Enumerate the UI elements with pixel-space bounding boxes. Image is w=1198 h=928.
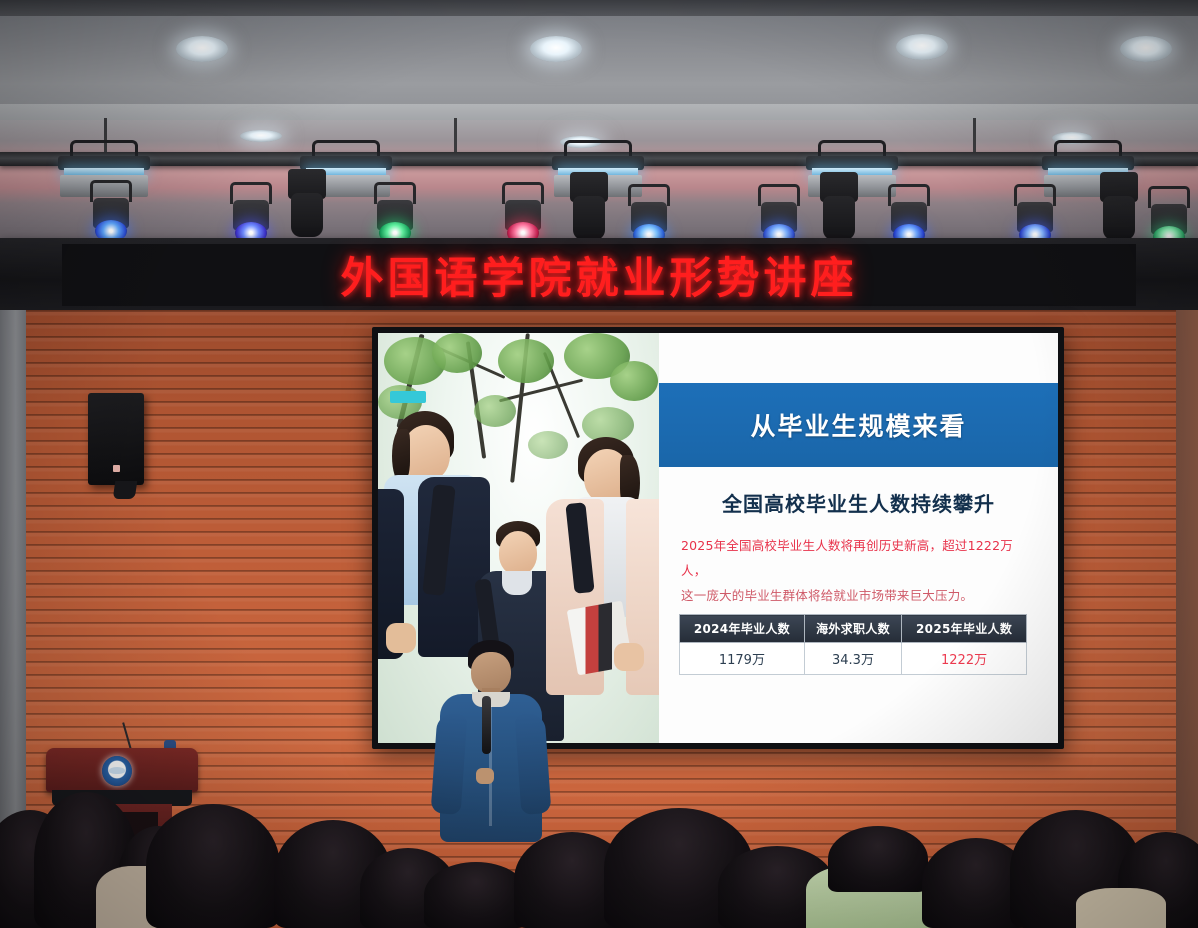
photo-foliage-3 [498, 339, 554, 383]
truss-drop-rod-3 [973, 118, 976, 152]
moving-head-body [291, 193, 323, 237]
ceiling-downlight-3 [896, 34, 948, 60]
table-cell-2024-value: 1179万 [680, 643, 805, 675]
audience-shoulder-cream [1076, 888, 1166, 928]
slide-paragraph-line-2: 这一庞大的毕业生群体将给就业市场带来巨大压力。 [681, 583, 1026, 608]
slide-paragraph: 2025年全国高校毕业生人数将再创历史新高，超过1222万人， 这一庞大的毕业生… [681, 533, 1026, 608]
ceiling-beam [0, 0, 1198, 16]
slide-title: 从毕业生规模来看 [750, 407, 966, 443]
stage-par-can-3 [372, 182, 418, 244]
presenter-collar [472, 692, 510, 707]
audience-head [828, 826, 928, 892]
slide-content-panel: 从毕业生规模来看 全国高校毕业生人数持续攀升 2025年全国高校毕业生人数将再创… [659, 333, 1058, 743]
moving-head-light-2 [566, 168, 612, 242]
audience-head [424, 862, 528, 928]
graduate-statistics-table: 2024年毕业人数 海外求职人数 2025年毕业人数 1179万 34.3万 1… [679, 614, 1027, 675]
photo-student-3 [550, 437, 659, 741]
stage-par-can-8 [1012, 184, 1058, 246]
table-header-row: 2024年毕业人数 海外求职人数 2025年毕业人数 [680, 615, 1027, 643]
student-hand [614, 643, 644, 671]
speaker-power-led-icon [113, 465, 120, 472]
moving-head-light-4 [1096, 168, 1142, 242]
table-header-2024: 2024年毕业人数 [680, 615, 805, 643]
moving-head-body [1103, 196, 1135, 240]
slide-title-bar: 从毕业生规模来看 [659, 383, 1058, 467]
stage-par-can-4 [500, 182, 546, 244]
student-hand [386, 623, 416, 653]
photo-foliage-5 [610, 361, 658, 401]
student-head [499, 531, 537, 575]
table-cell-overseas-value: 34.3万 [804, 643, 901, 675]
stage-par-can-2 [228, 182, 274, 244]
slide-paragraph-line-1: 2025年全国高校毕业生人数将再创历史新高，超过1222万人， [681, 533, 1026, 583]
audience-head [146, 804, 280, 928]
slide-subtitle: 全国高校毕业生人数持续攀升 [659, 488, 1058, 517]
led-banner: 外国语学院就业形势讲座 [62, 244, 1136, 306]
ceiling-downlight-4 [1120, 36, 1172, 62]
moving-head-light-1 [284, 165, 330, 239]
ceiling [0, 0, 1198, 120]
stage-par-can-7 [886, 184, 932, 246]
table-header-overseas: 海外求职人数 [804, 615, 901, 643]
truss-drop-rod-2 [454, 118, 457, 152]
table-row: 1179万 34.3万 1222万 [680, 643, 1027, 675]
led-banner-text: 外国语学院就业形势讲座 [341, 244, 858, 306]
lecture-hall-scene: 外国语学院就业形势讲座 [0, 0, 1198, 928]
ceiling-downlight-2 [530, 36, 582, 62]
stage-par-can-6 [756, 184, 802, 246]
student-collar [502, 571, 532, 595]
photo-sign-tag [390, 391, 426, 403]
stage-par-can-5 [626, 184, 672, 246]
table-cell-2025-value: 1222万 [902, 643, 1027, 675]
ceiling-downlight-1 [176, 36, 228, 62]
moving-head-light-3 [816, 168, 862, 242]
ceiling-strip-light-1 [240, 130, 282, 142]
handheld-microphone-icon [482, 696, 491, 754]
moving-head-body [823, 196, 855, 240]
audience [0, 770, 1198, 928]
speaker-bracket [113, 481, 138, 499]
photo-foliage-2 [432, 333, 482, 373]
stage-par-can-1 [88, 180, 134, 242]
table-header-2025: 2025年毕业人数 [902, 615, 1027, 643]
moving-head-body [573, 196, 605, 240]
wall-mounted-speaker [88, 393, 144, 485]
